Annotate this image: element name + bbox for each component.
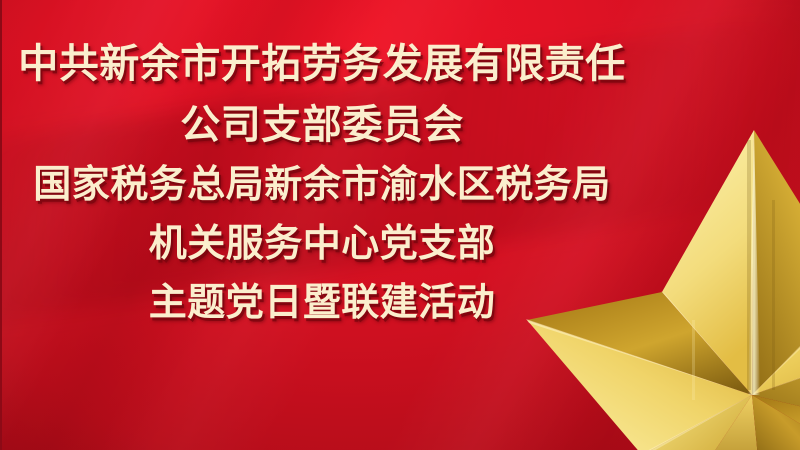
title-line-3: 国家税务总局新余市渝水区税务局 — [33, 165, 611, 203]
title-line-1: 中共新余市开拓劳务发展有限责任 — [18, 44, 626, 84]
title-line-2: 公司支部委员会 — [180, 105, 464, 145]
party-event-backdrop-poster: 中共新余市开拓劳务发展有限责任 公司支部委员会 国家税务总局新余市渝水区税务局 … — [0, 0, 800, 450]
title-text-block: 中共新余市开拓劳务发展有限责任 公司支部委员会 国家税务总局新余市渝水区税务局 … — [2, 0, 642, 450]
title-line-5: 主题党日暨联建活动 — [149, 283, 496, 321]
title-line-4: 机关服务中心党支部 — [149, 224, 496, 262]
